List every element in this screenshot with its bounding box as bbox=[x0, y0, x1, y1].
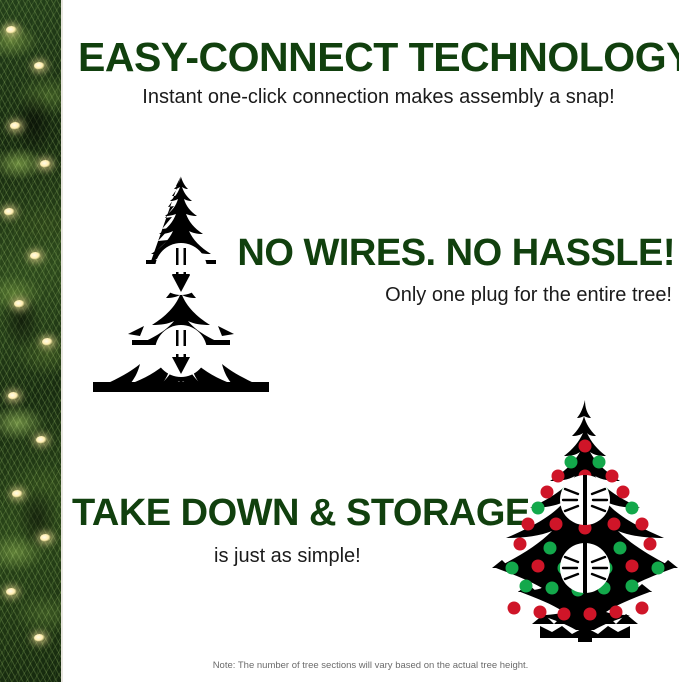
light-bulb bbox=[4, 208, 15, 216]
christmas-tree-branch-photo bbox=[0, 0, 62, 682]
photo-strip-edge bbox=[61, 0, 63, 682]
light-bulb bbox=[34, 634, 45, 642]
light-bulb bbox=[6, 26, 17, 34]
light-bulb bbox=[42, 338, 53, 346]
subheading-take-down: is just as simple! bbox=[214, 545, 361, 568]
light-bulb bbox=[40, 160, 51, 168]
light-bulb bbox=[34, 62, 45, 70]
light-bulb bbox=[40, 534, 51, 542]
disconnect-split-icon bbox=[560, 475, 610, 525]
promo-graphic: EASY-CONNECT TECHNOLOGY Instant one-clic… bbox=[0, 0, 679, 682]
disconnect-split-icon bbox=[560, 543, 610, 593]
heading-no-wires: NO WIRES. NO HASSLE! bbox=[237, 232, 675, 275]
light-bulb bbox=[10, 122, 21, 130]
light-bulb bbox=[8, 392, 19, 400]
heading-take-down: TAKE DOWN & STORAGE bbox=[72, 492, 530, 535]
light-bulb bbox=[14, 300, 25, 308]
footnote-note: Note: The number of tree sections will v… bbox=[62, 660, 679, 671]
subheading-no-wires: Only one plug for the entire tree! bbox=[385, 284, 672, 307]
light-bulb bbox=[12, 490, 23, 498]
heading-easy-connect: EASY-CONNECT TECHNOLOGY bbox=[78, 34, 679, 81]
subheading-easy-connect: Instant one-click connection makes assem… bbox=[78, 86, 679, 109]
decorated-tree-silhouette bbox=[492, 396, 678, 644]
light-bulb bbox=[36, 436, 47, 444]
light-bulb bbox=[6, 588, 17, 596]
connect-arrow-down-icon bbox=[88, 325, 274, 377]
tree-silhouette-3-sections bbox=[88, 174, 274, 392]
light-bulb bbox=[30, 252, 41, 260]
